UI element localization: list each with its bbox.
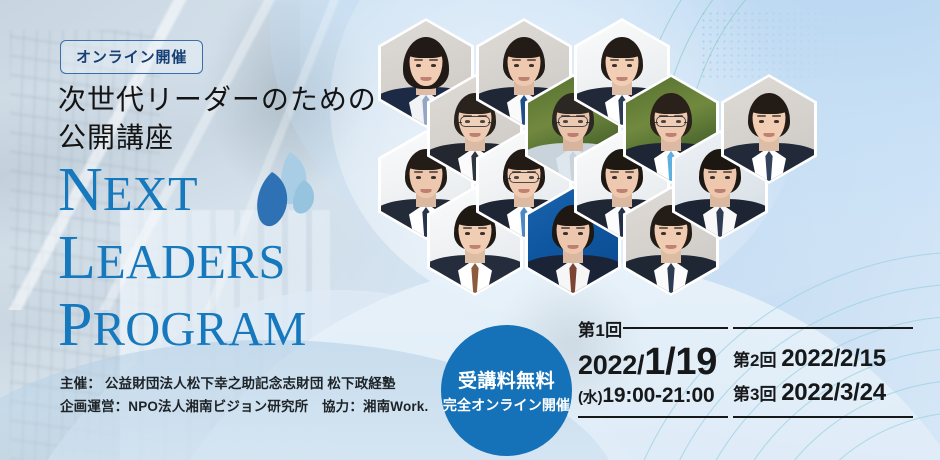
session-2-date: 2022/2/15 xyxy=(781,345,886,372)
speaker-eye xyxy=(431,64,436,67)
speaker-brow xyxy=(674,227,683,229)
online-event-badge: オンライン開催 xyxy=(60,40,203,74)
speaker-brow xyxy=(723,171,732,173)
session-1-date: 2022/1/19 xyxy=(578,341,717,384)
session-dates: 第1回 2022/1/19 (水)19:00-21:00 第2回 2022/2/… xyxy=(578,316,928,426)
wordmark-line-program: PROGRAM xyxy=(58,297,306,355)
session-3-label: 第3回 xyxy=(733,385,776,404)
speaker-glasses xyxy=(656,116,686,127)
speaker-mouth xyxy=(666,133,677,137)
wordmark-program-cap: P xyxy=(58,291,93,359)
speaker-eye xyxy=(529,64,534,67)
wordmark-next-cap: N xyxy=(58,156,103,224)
speaker-eye xyxy=(627,64,632,67)
leaf-logo-icon xyxy=(246,146,320,230)
wordmark-leaders-cap: L xyxy=(58,224,96,292)
free-badge-line-2: 完全オンライン開催 xyxy=(443,395,570,415)
speaker-brow xyxy=(561,227,570,229)
speaker-mouth xyxy=(715,189,726,193)
speaker-mouth xyxy=(421,77,432,81)
wordmark-line-leaders: LEADERS xyxy=(58,230,306,288)
session-1-year: 2022/ xyxy=(578,350,644,380)
session-3-date: 2022/3/24 xyxy=(781,379,886,406)
speaker-brow xyxy=(414,59,423,61)
speaker-brow xyxy=(625,171,634,173)
session-2-label: 第2回 xyxy=(733,351,776,370)
speaker-eye xyxy=(514,64,519,67)
credits-line-2: 企画運営：NPO法人湘南ビジョン研究所 協力：湘南Work. xyxy=(60,395,428,418)
speaker-eye xyxy=(759,120,764,123)
speaker-eye xyxy=(480,232,485,235)
speaker-eye xyxy=(612,176,617,179)
wordmark-program-rest: ROGRAM xyxy=(93,303,307,356)
speaker-brow xyxy=(429,59,438,61)
speaker-brow xyxy=(463,227,472,229)
session-1-monthday: 1/19 xyxy=(644,341,717,383)
speaker-eye xyxy=(774,120,779,123)
credits-line-1: 主催： 公益財団法人松下幸之助記念志財団 松下政経塾 xyxy=(60,372,428,395)
session-2-row: 第2回 2022/2/15 xyxy=(733,345,886,373)
speaker-mouth xyxy=(568,133,579,137)
speaker-mouth xyxy=(470,245,481,249)
speaker-brow xyxy=(429,171,438,173)
speaker-eye xyxy=(563,232,568,235)
speaker-brow xyxy=(414,171,423,173)
session-1-time-range: 19:00-21:00 xyxy=(602,384,714,407)
speaker-mouth xyxy=(421,189,432,193)
speaker-brow xyxy=(576,227,585,229)
speaker-brow xyxy=(610,59,619,61)
speaker-eye xyxy=(676,232,681,235)
speaker-mouth xyxy=(470,133,481,137)
speaker-eye xyxy=(612,64,617,67)
speaker-mouth xyxy=(617,189,628,193)
headline-line-2: 公開講座 xyxy=(58,120,377,158)
speaker-brow xyxy=(772,115,781,117)
speaker-eye xyxy=(416,176,421,179)
session-1-label: 第1回 xyxy=(578,316,622,341)
speaker-brow xyxy=(478,227,487,229)
speaker-eye xyxy=(416,64,421,67)
speaker-brow xyxy=(757,115,766,117)
speaker-mouth xyxy=(666,245,677,249)
speaker-eye xyxy=(627,176,632,179)
wordmark-next-rest: EXT xyxy=(103,168,198,221)
session-1-time: (水)19:00-21:00 xyxy=(578,384,714,408)
speaker-glasses xyxy=(509,172,539,183)
speaker-eye xyxy=(465,232,470,235)
speaker-mouth xyxy=(617,77,628,81)
speaker-mouth xyxy=(568,245,579,249)
speaker-mouth xyxy=(764,133,775,137)
speaker-brow xyxy=(659,227,668,229)
speaker-glasses xyxy=(558,116,588,127)
speaker-brow xyxy=(625,59,634,61)
speaker-eye xyxy=(725,176,730,179)
speaker-glasses xyxy=(460,116,490,127)
speaker-mouth xyxy=(519,189,530,193)
free-badge-line-1: 受講料無料 xyxy=(458,366,555,393)
session-23-rule-bottom xyxy=(733,416,913,418)
free-admission-badge: 受講料無料 完全オンライン開催 xyxy=(441,325,572,456)
speaker-brow xyxy=(512,59,521,61)
speaker-brow xyxy=(708,171,717,173)
speaker-eye xyxy=(710,176,715,179)
session-1-rule-top xyxy=(623,327,728,329)
speaker-eye xyxy=(578,232,583,235)
session-3-row: 第3回 2022/3/24 xyxy=(733,379,886,407)
session-1-dow: (水) xyxy=(578,389,602,406)
speaker-eye xyxy=(431,176,436,179)
session-23-rule-top xyxy=(733,327,913,329)
speaker-portrait-grid xyxy=(362,0,940,344)
credits: 主催： 公益財団法人松下幸之助記念志財団 松下政経塾 企画運営：NPO法人湘南ビ… xyxy=(60,372,428,418)
speaker-brow xyxy=(610,171,619,173)
session-1-rule-bottom xyxy=(578,416,728,418)
page-title: 次世代リーダーのための 公開講座 xyxy=(58,82,377,159)
speaker-eye xyxy=(661,232,666,235)
headline-line-1: 次世代リーダーのための xyxy=(58,82,377,120)
wordmark-leaders-rest: EADERS xyxy=(96,236,286,289)
seminar-banner: オンライン開催 次世代リーダーのための 公開講座 NEXT LEADERS PR… xyxy=(0,0,940,460)
speaker-mouth xyxy=(519,77,530,81)
speaker-brow xyxy=(527,59,536,61)
